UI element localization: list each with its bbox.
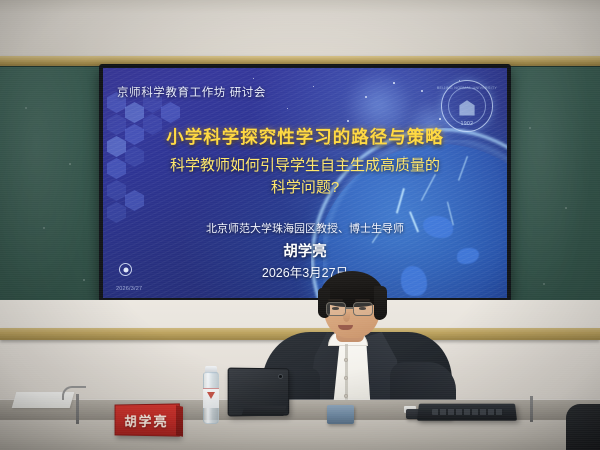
nose [343, 311, 350, 322]
chair-back [566, 404, 600, 450]
hex-decoration [161, 102, 180, 123]
laptop-keyboard[interactable] [432, 409, 504, 415]
slide-corner-mark-icon [119, 263, 132, 276]
slide-header: 京师科学教育工作坊 研讨会 [117, 84, 266, 100]
slide-subtitle-1: 科学教师如何引导学生自主生成高质量的 [103, 154, 507, 175]
seal-year: 1902 [461, 121, 474, 127]
ceiling-shadow [0, 0, 600, 14]
eyeglasses-bridge [346, 307, 353, 309]
slide-canvas: 京师科学教育工作坊 研讨会 小学科学探究性学习的路径与策略 科学教师如何引导学生… [103, 68, 507, 298]
name-placard-label: 胡学亮 [124, 410, 168, 429]
blue-device[interactable] [327, 405, 354, 424]
chalkboard-right-panel [508, 66, 600, 330]
microphone-stand [76, 394, 79, 424]
slide-title: 小学科学探究性学习的路径与策略 [103, 124, 507, 149]
microphone-arm [62, 386, 86, 400]
desk-front-panel [0, 420, 600, 450]
slide-affiliation: 北京师范大学珠海园区教授、博士生导师 [103, 220, 507, 236]
presentation-display[interactable]: 京师科学教育工作坊 研讨会 小学科学探究性学习的路径与策略 科学教师如何引导学生… [99, 64, 511, 302]
classroom-photo: 京师科学教育工作坊 研讨会 小学科学探究性学习的路径与策略 科学教师如何引导学生… [0, 0, 600, 450]
tablet-stand [241, 406, 286, 416]
chalkboard-left-panel [0, 66, 106, 330]
eyeglasses-lens-right [353, 302, 373, 316]
hex-decoration [125, 102, 144, 123]
university-seal-icon: BEIJING NORMAL UNIVERSITY 1902 [441, 80, 493, 132]
microphone-stand-2 [530, 396, 533, 422]
slide-subtitle-2: 科学问题? [103, 176, 507, 197]
slide-corner-stamp: 2026/3/27 [116, 286, 142, 292]
tablet-camera-icon [278, 374, 283, 379]
name-placard: 胡学亮 [115, 403, 180, 436]
hair-side-right [374, 286, 387, 320]
name-placard-fold [176, 405, 183, 436]
slide-presenter-name: 胡学亮 [103, 240, 507, 261]
